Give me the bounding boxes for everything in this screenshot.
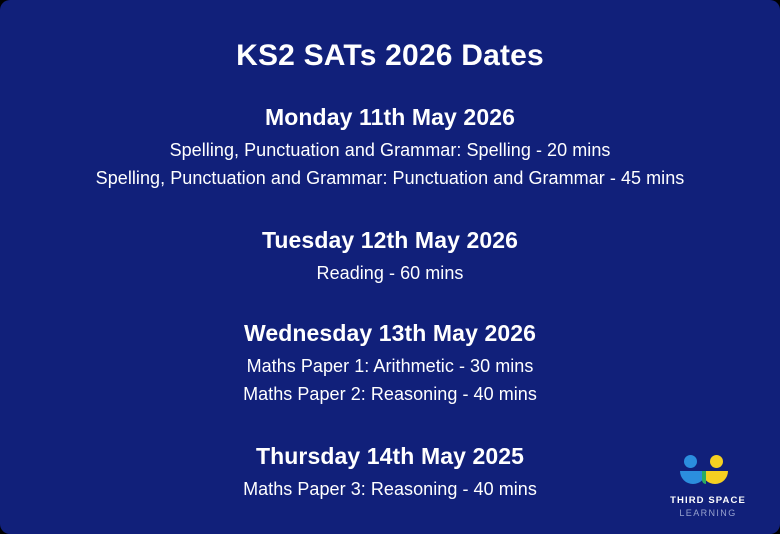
schedule-day-tuesday: Tuesday 12th May 2026 Reading - 60 mins [0, 225, 780, 288]
logo-smile-overlap-green-icon [702, 471, 706, 484]
logo-eye-yellow-icon [710, 455, 723, 468]
logo-eye-blue-icon [684, 455, 697, 468]
paper-line: Spelling, Punctuation and Grammar: Spell… [0, 137, 780, 165]
logo-name: THIRD SPACE [660, 496, 756, 506]
paper-line: Maths Paper 1: Arithmetic - 30 mins [0, 353, 780, 381]
day-heading: Tuesday 12th May 2026 [0, 225, 780, 256]
third-space-learning-logo: THIRD SPACE LEARNING [660, 455, 756, 519]
day-heading: Wednesday 13th May 2026 [0, 318, 780, 349]
schedule-day-wednesday: Wednesday 13th May 2026 Maths Paper 1: A… [0, 318, 780, 409]
paper-line: Maths Paper 2: Reasoning - 40 mins [0, 381, 780, 409]
logo-subtitle: LEARNING [660, 509, 756, 518]
smiley-faces-icon [680, 455, 736, 489]
page-title: KS2 SATs 2026 Dates [0, 0, 780, 74]
day-heading: Monday 11th May 2026 [0, 102, 780, 133]
paper-line: Spelling, Punctuation and Grammar: Punct… [0, 165, 780, 193]
schedule-day-monday: Monday 11th May 2026 Spelling, Punctuati… [0, 102, 780, 193]
schedule-list: Monday 11th May 2026 Spelling, Punctuati… [0, 102, 780, 504]
paper-line: Reading - 60 mins [0, 260, 780, 288]
sats-dates-poster: KS2 SATs 2026 Dates Monday 11th May 2026… [0, 0, 780, 534]
